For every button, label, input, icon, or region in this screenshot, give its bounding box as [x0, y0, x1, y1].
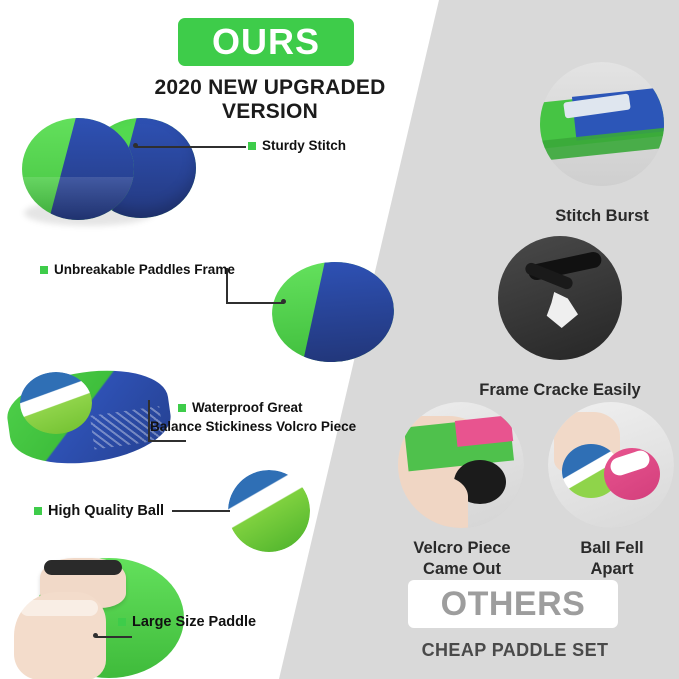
photo-ball-fell-apart [548, 402, 674, 528]
callout-large-size-paddle: Large Size Paddle [118, 613, 256, 631]
paddle-photo-front [22, 118, 134, 220]
bullet-square-icon [178, 404, 186, 412]
caption-velcro-came-out: Velcro PieceCame Out [382, 538, 542, 579]
ball-photo [228, 470, 310, 552]
ball-on-paddle [20, 372, 92, 434]
leader-dot-sturdy-stitch [133, 143, 138, 148]
caption-stitch-burst: Stitch Burst [525, 206, 679, 227]
comparison-infographic: OURS 2020 NEW UPGRADED VERSION [0, 0, 679, 679]
others-subtitle: CHEAP PADDLE SET [390, 640, 640, 661]
caption-frame-crack: Frame Cracke Easily [462, 380, 658, 401]
leader-line-frame-horz [226, 302, 284, 304]
photo-stitch-burst [540, 62, 664, 186]
callout-unbreakable-frame: Unbreakable Paddles Frame [40, 262, 235, 279]
leader-dot-frame [281, 299, 286, 304]
leader-line-velcro-horz [148, 440, 186, 442]
callout-waterproof: Waterproof Great [178, 400, 303, 417]
leader-dot-large-paddle [93, 633, 98, 638]
others-label: OTHERS [441, 585, 586, 624]
bullet-square-icon [40, 266, 48, 274]
leader-line-ball [172, 510, 230, 512]
caption-ball-fell-apart: Ball FellApart [534, 538, 679, 579]
callout-high-quality-ball: High Quality Ball [34, 502, 164, 520]
leader-line-large-paddle [96, 636, 132, 638]
leader-line-sturdy-stitch [136, 146, 246, 148]
bullet-square-icon [248, 142, 256, 150]
callout-balance-stickiness: Balance Stickiness Volcro Piece [150, 419, 356, 436]
hand-paddle-photo [14, 540, 194, 679]
others-badge: OTHERS [408, 580, 618, 628]
ours-subtitle: 2020 NEW UPGRADED VERSION [110, 76, 430, 124]
ours-badge: OURS [178, 18, 354, 66]
bullet-square-icon [118, 618, 126, 626]
photo-velcro-came-out [398, 402, 524, 528]
callout-sturdy-stitch: Sturdy Stitch [248, 138, 346, 155]
bullet-square-icon [34, 507, 42, 515]
ours-label: OURS [212, 21, 320, 63]
paddle-photo-single [269, 258, 398, 366]
photo-frame-crack [498, 236, 622, 360]
